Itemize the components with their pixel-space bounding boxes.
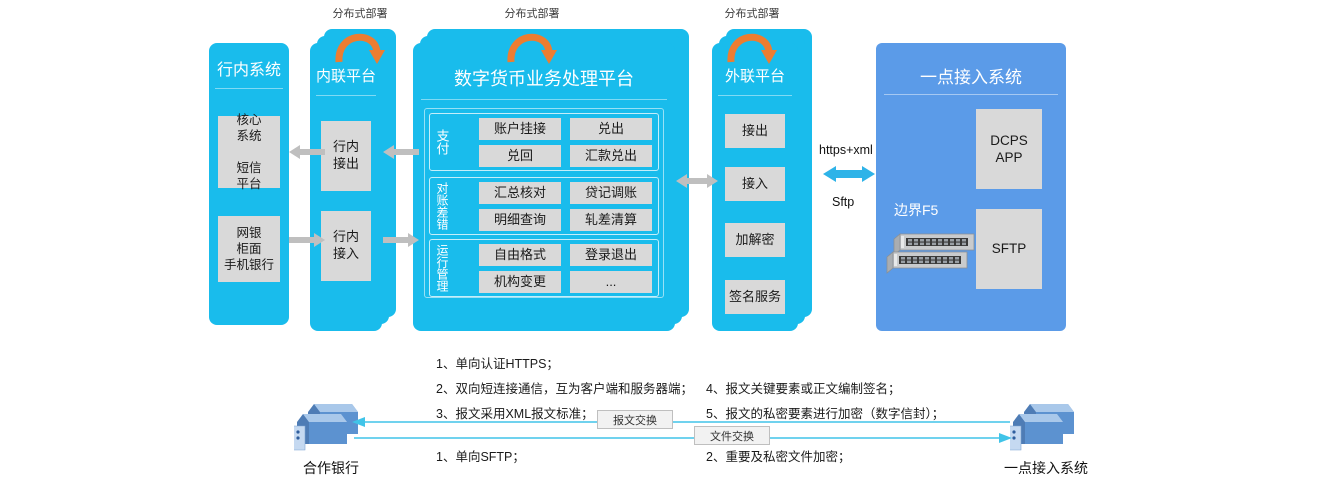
tile-account-binding[interactable]: 账户挂接 [479, 118, 561, 140]
group-label-payment: 支付 [433, 114, 451, 170]
tile-redeem-back[interactable]: 兑回 [479, 145, 561, 167]
exchange-label-file: 文件交换 [694, 426, 770, 445]
node-caption-partner-bank: 合作银行 [276, 458, 386, 478]
tile-free-format[interactable]: 自由格式 [479, 244, 561, 266]
connector-arrow-dcep-external [676, 172, 718, 190]
tile-intranet-inbound[interactable]: 行内 接入 [321, 211, 371, 281]
column-dcep-platform: 数字货币业务处理平台 支付 账户挂接 兑出 兑回 汇款兑出 对账差错 汇总核对 … [413, 43, 675, 331]
network-switch-icon [886, 228, 978, 276]
tile-ebank-counter-mobile[interactable]: 网银 柜面 手机银行 [218, 216, 280, 282]
column-body: 支付 账户挂接 兑出 兑回 汇款兑出 对账差错 汇总核对 贷记调账 明细查询 轧… [413, 43, 675, 331]
tile-intranet-outbound[interactable]: 行内 接出 [321, 121, 371, 191]
tile-core-system[interactable]: 核心 系统 短信 平台 [218, 116, 280, 188]
column-internal-platform: 内联平台 行内 接出 行内 接入 [310, 43, 382, 331]
group-payment: 支付 账户挂接 兑出 兑回 汇款兑出 [429, 113, 659, 171]
flow-arrow-file-exchange [352, 431, 1012, 445]
tile-encrypt-decrypt[interactable]: 加解密 [725, 223, 785, 257]
title-divider [884, 94, 1058, 95]
connector-arrow-ebank-to-in [289, 232, 325, 248]
distributed-deployment-arc-3 [723, 22, 783, 64]
f5-boundary-label: 边界F5 [894, 200, 938, 220]
note-message-left-1: 1、单向认证HTTPS； [436, 353, 559, 372]
tile-external-outbound[interactable]: 接出 [725, 114, 785, 148]
group-operations: 运行管理 自由格式 登录退出 机构变更 ... [429, 239, 659, 297]
tile-redeem-out[interactable]: 兑出 [570, 118, 652, 140]
note-message-left-2: 2、双向短连接通信，互为客户端和服务器端； [436, 378, 693, 397]
node-caption-access-system: 一点接入系统 [986, 458, 1106, 478]
distributed-deployment-arc-1 [331, 22, 391, 64]
note-message-right-1: 4、报文关键要素或正文编制签名； [706, 378, 900, 397]
distributed-deployment-arc-2 [503, 22, 563, 64]
group-label-operations: 运行管理 [433, 240, 451, 296]
column-body: 核心 系统 短信 平台 网银 柜面 手机银行 [209, 43, 289, 325]
tile-login-logout[interactable]: 登录退出 [570, 244, 652, 266]
tile-netting-settlement[interactable]: 轧差清算 [570, 209, 652, 231]
group-label-reconciliation: 对账差错 [433, 178, 451, 234]
column-body: 接出 接入 加解密 签名服务 [712, 43, 798, 331]
connector-arrow-out-to-core [289, 144, 325, 160]
connector-arrow-protocol [823, 164, 875, 184]
note-file-left-1: 1、单向SFTP； [436, 446, 525, 465]
tile-dcps-app[interactable]: DCPS APP [976, 109, 1042, 189]
tile-org-change[interactable]: 机构变更 [479, 271, 561, 293]
tile-external-inbound[interactable]: 接入 [725, 167, 785, 201]
distributed-deployment-label-1: 分布式部署 [305, 5, 415, 21]
protocol-label-https-xml: https+xml [819, 143, 873, 157]
tile-detail-query[interactable]: 明细查询 [479, 209, 561, 231]
flow-arrow-message-exchange [352, 415, 1012, 429]
protocol-label-sftp: Sftp [832, 195, 854, 209]
server-icon-partner-bank [294, 400, 360, 452]
tile-credit-adjust[interactable]: 贷记调账 [570, 182, 652, 204]
column-intranet-system: 行内系统 核心 系统 短信 平台 网银 柜面 手机银行 [209, 43, 289, 325]
connector-arrow-internal-to-dcep-in [383, 232, 419, 248]
distributed-deployment-label-3: 分布式部署 [697, 5, 807, 21]
connector-arrow-internal-to-dcep-out [383, 144, 419, 160]
server-icon-access-system [1010, 400, 1076, 452]
tile-sftp[interactable]: SFTP [976, 209, 1042, 289]
tile-summary-check[interactable]: 汇总核对 [479, 182, 561, 204]
column-body: 行内 接出 行内 接入 [310, 43, 382, 331]
column-title-access-system: 一点接入系统 [876, 63, 1066, 88]
group-reconciliation: 对账差错 汇总核对 贷记调账 明细查询 轧差清算 [429, 177, 659, 235]
exchange-label-message: 报文交换 [597, 410, 673, 429]
column-access-system: 一点接入系统 边界F5 [876, 43, 1066, 331]
tile-remittance-out[interactable]: 汇款兑出 [570, 145, 652, 167]
tile-signature-service[interactable]: 签名服务 [725, 280, 785, 314]
tile-more[interactable]: ... [570, 271, 652, 293]
note-file-right-1: 2、重要及私密文件加密； [706, 446, 850, 465]
column-external-platform: 外联平台 接出 接入 加解密 签名服务 [712, 43, 798, 331]
distributed-deployment-label-2: 分布式部署 [477, 5, 587, 21]
diagram-canvas: 分布式部署 分布式部署 分布式部署 行内系统 核心 系统 短信 平台 网银 柜面… [0, 0, 1333, 483]
